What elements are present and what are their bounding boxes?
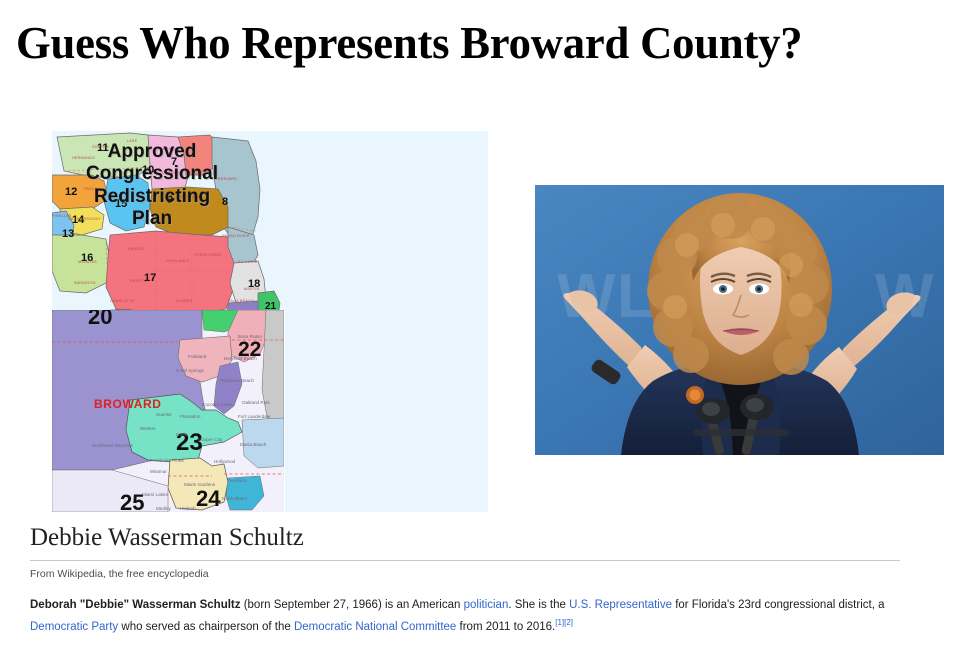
svg-text:ST. LUCIE: ST. LUCIE [238,260,258,264]
svg-text:Hollywood: Hollywood [214,459,236,464]
map-caption-line-1: Approved [62,141,242,163]
link-democratic-party[interactable]: Democratic Party [30,620,118,632]
svg-text:Coral Springs: Coral Springs [176,368,205,373]
svg-text:Miramar: Miramar [150,469,167,474]
subject-name: Deborah "Debbie" Wasserman Schultz [30,599,241,611]
redistricting-map-image: Approved Congressional Redistricting Pla… [52,131,488,512]
svg-text:GLADES: GLADES [176,299,193,303]
page-title: Guess Who Represents Broward County? [16,18,934,69]
svg-text:SARASOTA: SARASOTA [74,281,96,285]
para-seg-4: who served as chairperson of the [118,620,294,632]
map-caption-line-3: Redistricting [62,186,242,208]
politician-photo: WL RD W [535,185,944,455]
svg-text:Coconut Creek: Coconut Creek [202,402,233,407]
svg-text:Parkland: Parkland [188,354,207,359]
svg-text:Davie: Davie [176,432,188,437]
svg-text:PALM BEACH: PALM BEACH [228,299,254,303]
svg-text:MANATEE: MANATEE [78,260,98,264]
svg-text:Miami Gardens: Miami Gardens [184,482,216,487]
wikipedia-article-title: Debbie Wasserman Schultz [30,524,930,558]
divider [30,560,900,561]
svg-text:Dania Beach: Dania Beach [240,442,267,447]
wikipedia-lead-paragraph: Deborah "Debbie" Wasserman Schultz (born… [30,596,928,637]
svg-text:HIGHLANDS: HIGHLANDS [166,259,190,263]
svg-text:24: 24 [196,486,221,511]
svg-text:Boca Raton: Boca Raton [238,334,262,339]
svg-text:Deerfield Beach: Deerfield Beach [224,356,257,361]
reference-2[interactable]: [2] [564,618,573,627]
svg-text:OKEECHOBEE: OKEECHOBEE [194,253,222,257]
svg-text:Fort Lauderdale: Fort Lauderdale [238,414,271,419]
svg-text:20: 20 [88,310,112,329]
svg-text:MARTIN: MARTIN [244,287,260,291]
svg-text:North Miami: North Miami [222,496,247,501]
svg-text:Plantation: Plantation [180,414,201,419]
svg-text:CHARLOTTE: CHARLOTTE [110,299,135,303]
svg-text:Miami Lakes: Miami Lakes [142,492,168,497]
para-seg-1: (born September 27, 1966) is an American [241,599,464,611]
para-seg-3: for Florida's 23rd congressional distric… [672,599,884,611]
svg-text:Pompano Beach: Pompano Beach [220,378,254,383]
svg-text:25: 25 [120,490,144,512]
map-caption: Approved Congressional Redistricting Pla… [62,141,242,231]
svg-text:BROWARD: BROWARD [94,397,162,411]
map-caption-line-4: Plan [62,208,242,230]
link-us-representative[interactable]: U.S. Representative [569,599,672,611]
broward-inset-svg: 20 22 23 24 25 BROWARD Boca Raton Parkla… [52,310,284,512]
svg-text:Pembroke Pines: Pembroke Pines [150,458,184,463]
para-seg-5: from 2011 to 2016. [456,620,555,632]
wikipedia-excerpt: Debbie Wasserman Schultz From Wikipedia,… [30,524,930,637]
svg-text:Southwest Ranches: Southwest Ranches [92,443,134,448]
svg-text:Oakland Park: Oakland Park [242,400,271,405]
svg-text:DESOTO: DESOTO [130,279,147,283]
svg-text:HARDEE: HARDEE [128,247,145,251]
svg-text:Weston: Weston [140,426,156,431]
broward-county-inset-map: 20 22 23 24 25 BROWARD Boca Raton Parkla… [52,310,285,512]
svg-text:Sunrise: Sunrise [156,412,172,417]
svg-text:Hialeah: Hialeah [180,506,196,511]
svg-text:Cooper City: Cooper City [198,437,223,442]
svg-text:INDIAN RIVER: INDIAN RIVER [222,234,250,238]
svg-text:Aventura: Aventura [228,478,247,483]
photo-illustration: WL RD W [535,185,944,455]
reference-1[interactable]: [1] [555,618,564,627]
link-democratic-national-committee[interactable]: Democratic National Committee [294,620,456,632]
map-caption-line-2: Congressional [62,163,242,185]
svg-text:Medley: Medley [156,506,172,511]
para-seg-2: . She is the [508,599,569,611]
link-politician[interactable]: politician [464,599,509,611]
wikipedia-subtitle: From Wikipedia, the free encyclopedia [30,568,930,580]
